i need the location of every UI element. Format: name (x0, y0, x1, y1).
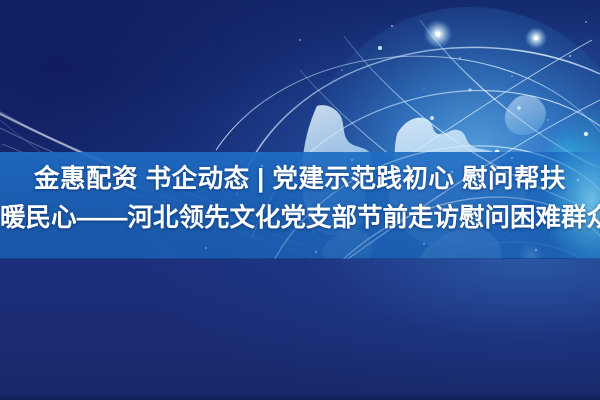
article-banner-image: 金惠配资 书企动态 | 党建示范践初心 慰问帮扶 暖民心——河北领先文化党支部节… (0, 0, 600, 400)
bottom-edge-strip (0, 394, 600, 400)
headline-line-2: 暖民心——河北领先文化党支部节前走访慰问困难群众 (0, 199, 600, 238)
headline-line-1: 金惠配资 书企动态 | 党建示范践初心 慰问帮扶 (0, 160, 600, 199)
banner-headline: 金惠配资 书企动态 | 党建示范践初心 慰问帮扶 暖民心——河北领先文化党支部节… (0, 160, 600, 238)
